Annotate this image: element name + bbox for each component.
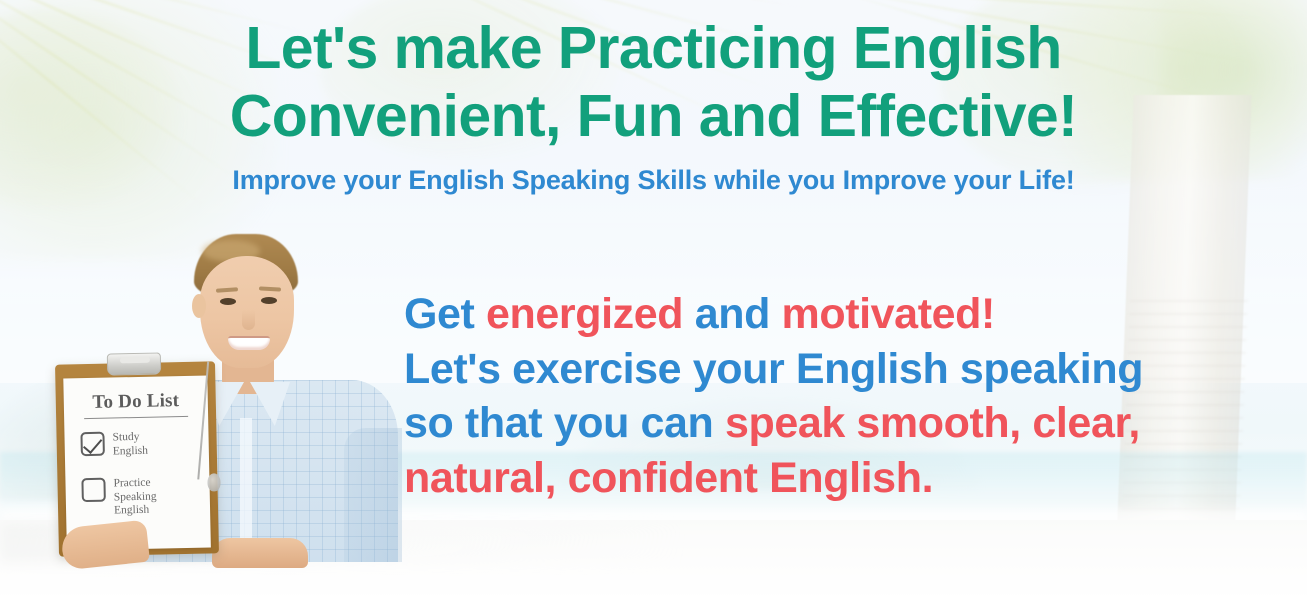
body-copy: Get energized and motivated! Let's exerc…	[404, 287, 1284, 505]
body-seg: Let's exercise your English speaking	[404, 345, 1143, 393]
body-seg-emphasis: energized	[486, 290, 695, 338]
body-seg-emphasis: natural, confident English.	[404, 454, 933, 502]
body-seg: and	[695, 290, 782, 338]
body-line-2: Let's exercise your English speaking	[404, 342, 1284, 397]
body-line-3: so that you can speak smooth, clear,	[404, 396, 1284, 451]
body-line-1: Get energized and motivated!	[404, 287, 1284, 342]
body-seg-emphasis: speak smooth, clear,	[725, 399, 1140, 447]
page-title: Let's make Practicing English Convenient…	[0, 14, 1307, 150]
body-line-4: natural, confident English.	[404, 451, 1284, 506]
headline-line-1: Let's make Practicing English	[245, 15, 1061, 81]
headline-line-2: Convenient, Fun and Effective!	[0, 82, 1307, 150]
page-subtitle: Improve your English Speaking Skills whi…	[0, 163, 1307, 197]
banner-content: Let's make Practicing English Convenient…	[0, 0, 1307, 599]
body-seg: so that you can	[404, 399, 725, 447]
promo-banner: To Do List Study English Practice Speaki…	[0, 0, 1307, 599]
body-seg: Get	[404, 290, 486, 338]
body-seg-emphasis: motivated!	[782, 290, 995, 338]
